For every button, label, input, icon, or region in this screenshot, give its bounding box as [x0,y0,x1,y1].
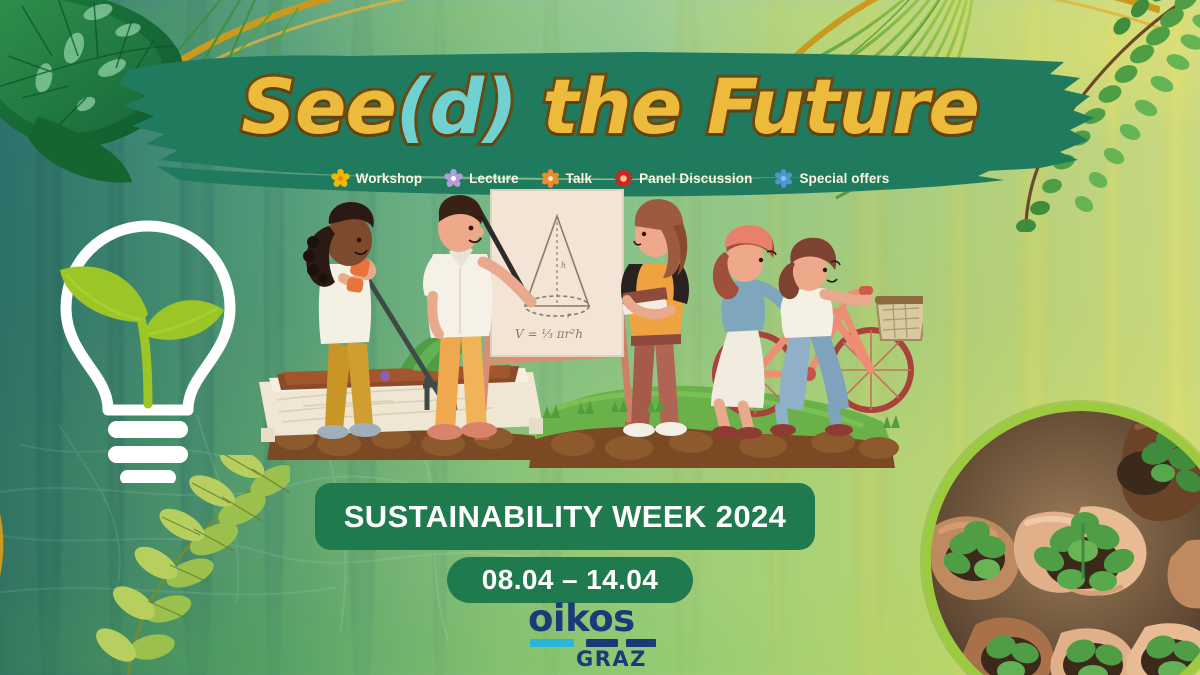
event-title-text: SUSTAINABILITY WEEK 2024 [344,499,787,535]
lightbulb-sprout-icon [58,218,238,483]
headline-wrapper: See(d) the Future [120,52,1100,162]
logo-bar-navy2 [626,639,656,647]
logo-wordmark: oikos [528,601,635,636]
svg-text:V = ⅓ πr²h: V = ⅓ πr²h [515,327,583,341]
event-dates-text: 08.04 – 14.04 [482,564,658,596]
poster-canvas: See(d) the Future WorkshopLectureTalkPan… [0,0,1200,675]
title-part-see: See [241,62,396,151]
event-title-badge: SUSTAINABILITY WEEK 2024 [315,483,815,550]
sustainability-activities-illustration: h r V = ⅓ πr²h [243,182,923,472]
title-part-the-future: the Future [517,62,979,151]
page-title: See(d) the Future [241,69,979,145]
logo-bar-navy1 [586,639,618,647]
svg-text:h: h [561,261,566,270]
oikos-graz-logo: oikos GRAZ [528,603,658,669]
logo-city: GRAZ [576,647,647,671]
leafy-branch-icon [0,455,290,675]
logo-bar-cyan [530,639,574,647]
seedlings-photo-art [931,411,1200,675]
title-part-d: (d) [396,62,517,151]
